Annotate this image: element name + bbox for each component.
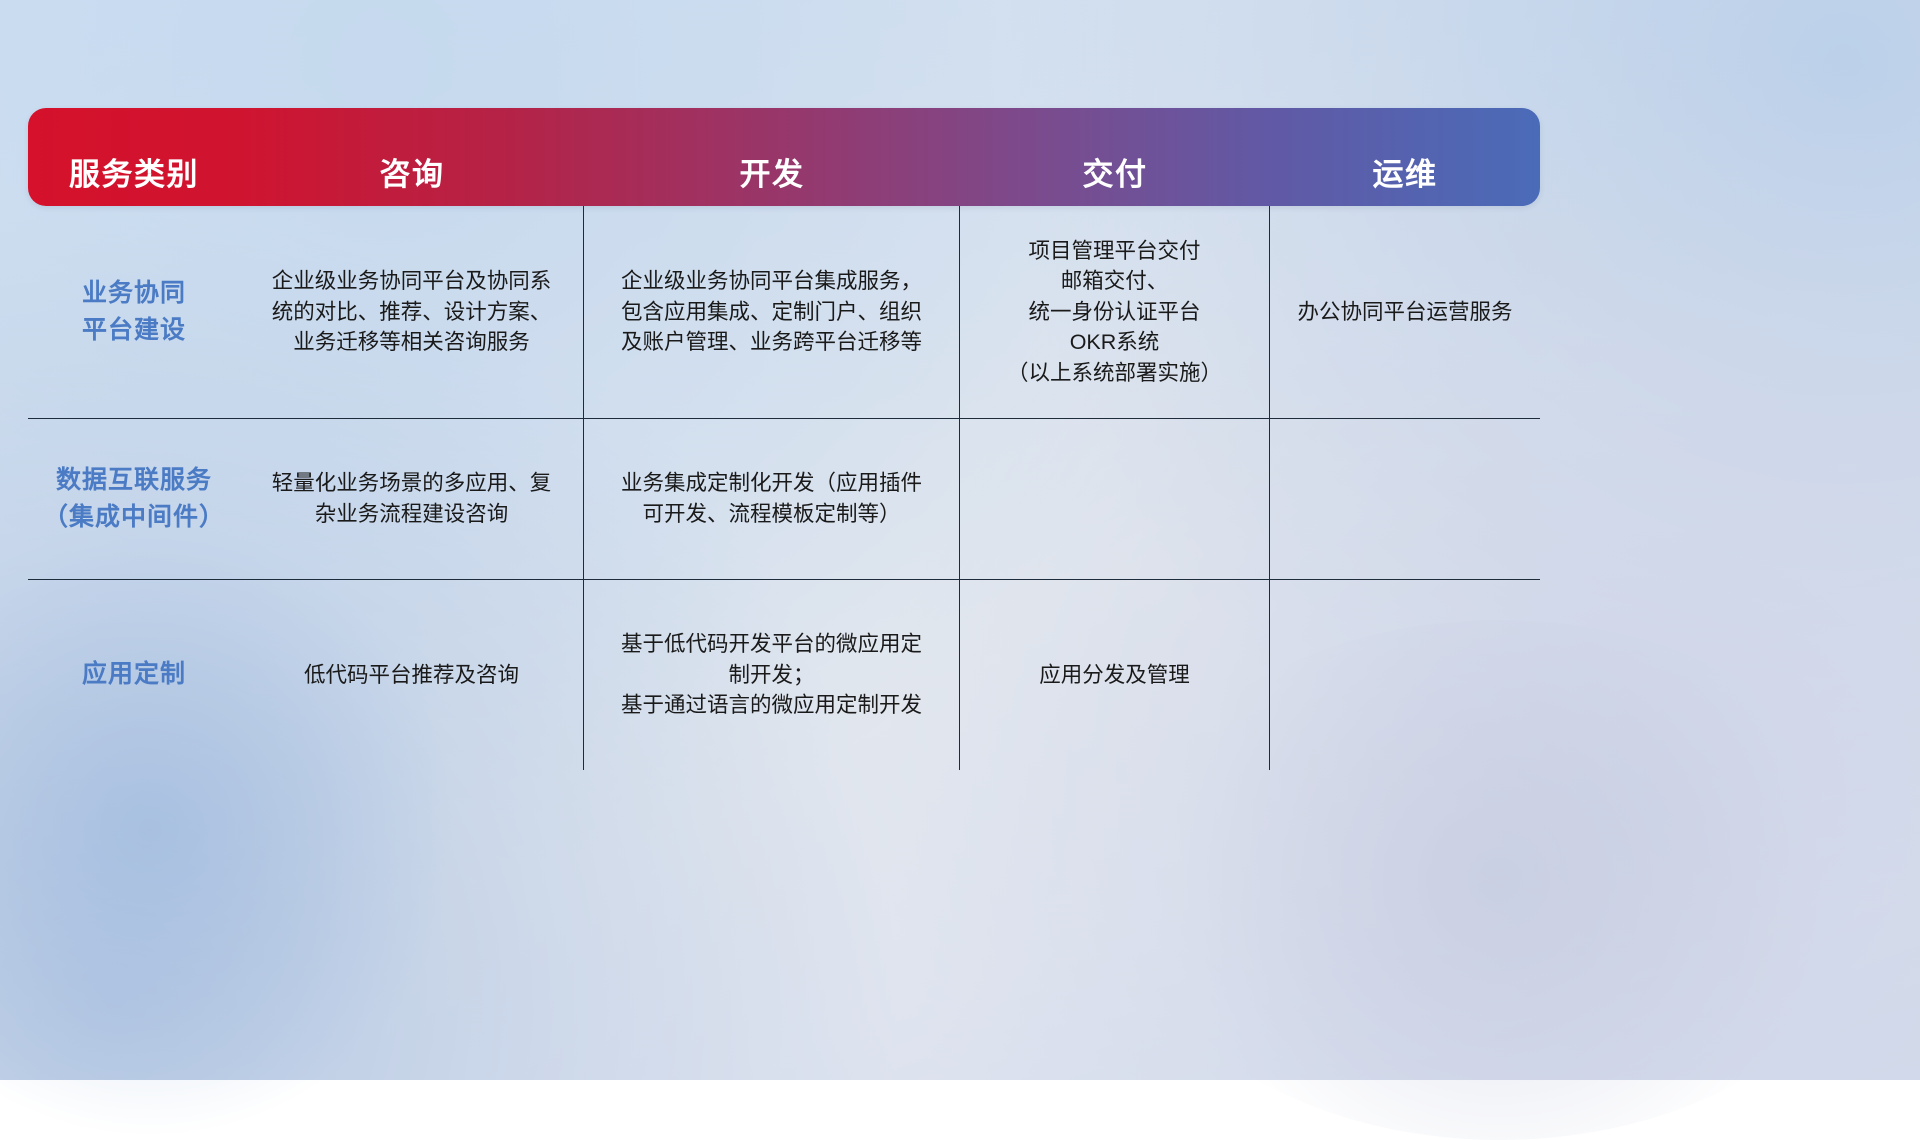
cell-text: 数据互联服务 （集成中间件） [43, 462, 225, 537]
cell-delivery: 应用分发及管理 [960, 580, 1270, 770]
cell-text: 业务协同 平台建设 [82, 275, 186, 350]
header-cell-delivery: 交付 [960, 108, 1270, 206]
header-cell-development: 开发 [584, 108, 960, 206]
header-label-category: 服务类别 [69, 159, 199, 190]
cell-development: 业务集成定制化开发（应用插件 可开发、流程模板定制等） [584, 419, 960, 579]
header-label-consulting: 咨询 [380, 159, 445, 190]
cell-text: 基于低代码开发平台的微应用定 制开发； 基于通过语言的微应用定制开发 [621, 629, 922, 721]
cell-consulting: 低代码平台推荐及咨询 [240, 580, 584, 770]
header-cell-consulting: 咨询 [240, 108, 584, 206]
header-label-delivery: 交付 [1083, 159, 1148, 190]
cell-text: 企业级业务协同平台集成服务， 包含应用集成、定制门户、组织 及账户管理、业务跨平… [621, 266, 922, 358]
header-label-development: 开发 [740, 159, 805, 190]
cell-text: 应用分发及管理 [1039, 660, 1190, 691]
cell-text: 项目管理平台交付 邮箱交付、 统一身份认证平台 OKR系统 （以上系统部署实施） [1007, 236, 1222, 389]
row-category-label: 应用定制 [28, 580, 240, 770]
table-row: 应用定制 低代码平台推荐及咨询 基于低代码开发平台的微应用定 制开发； 基于通过… [28, 580, 1540, 770]
header-cell-operations: 运维 [1270, 108, 1540, 206]
cell-text: 企业级业务协同平台及协同系 统的对比、推荐、设计方案、 业务迁移等相关咨询服务 [272, 266, 552, 358]
cell-text: 业务集成定制化开发（应用插件 可开发、流程模板定制等） [621, 468, 922, 529]
header-label-operations: 运维 [1373, 159, 1438, 190]
row-category-label: 数据互联服务 （集成中间件） [28, 419, 240, 579]
cell-development: 基于低代码开发平台的微应用定 制开发； 基于通过语言的微应用定制开发 [584, 580, 960, 770]
table-row: 业务协同 平台建设 企业级业务协同平台及协同系 统的对比、推荐、设计方案、 业务… [28, 206, 1540, 419]
cell-text: 轻量化业务场景的多应用、复 杂业务流程建设咨询 [272, 468, 552, 529]
cell-consulting: 轻量化业务场景的多应用、复 杂业务流程建设咨询 [240, 419, 584, 579]
table-header-row: 服务类别 咨询 开发 交付 运维 [28, 108, 1540, 206]
cell-operations: 办公协同平台运营服务 [1270, 206, 1540, 418]
cell-consulting: 企业级业务协同平台及协同系 统的对比、推荐、设计方案、 业务迁移等相关咨询服务 [240, 206, 584, 418]
header-cell-category: 服务类别 [28, 108, 240, 206]
cell-delivery [960, 419, 1270, 579]
table-row: 数据互联服务 （集成中间件） 轻量化业务场景的多应用、复 杂业务流程建设咨询 业… [28, 419, 1540, 580]
cell-text: 办公协同平台运营服务 [1297, 297, 1512, 328]
cell-delivery: 项目管理平台交付 邮箱交付、 统一身份认证平台 OKR系统 （以上系统部署实施） [960, 206, 1270, 418]
cell-text: 应用定制 [82, 656, 186, 694]
row-category-label: 业务协同 平台建设 [28, 206, 240, 418]
table-body: 业务协同 平台建设 企业级业务协同平台及协同系 统的对比、推荐、设计方案、 业务… [28, 206, 1540, 770]
service-matrix-table: 服务类别 咨询 开发 交付 运维 业务协同 平台建设 [28, 108, 1540, 770]
cell-text: 低代码平台推荐及咨询 [304, 660, 519, 691]
cell-development: 企业级业务协同平台集成服务， 包含应用集成、定制门户、组织 及账户管理、业务跨平… [584, 206, 960, 418]
slide-canvas: 服务类别 咨询 开发 交付 运维 业务协同 平台建设 [0, 0, 1920, 1080]
cell-operations [1270, 419, 1540, 579]
cell-operations [1270, 580, 1540, 770]
